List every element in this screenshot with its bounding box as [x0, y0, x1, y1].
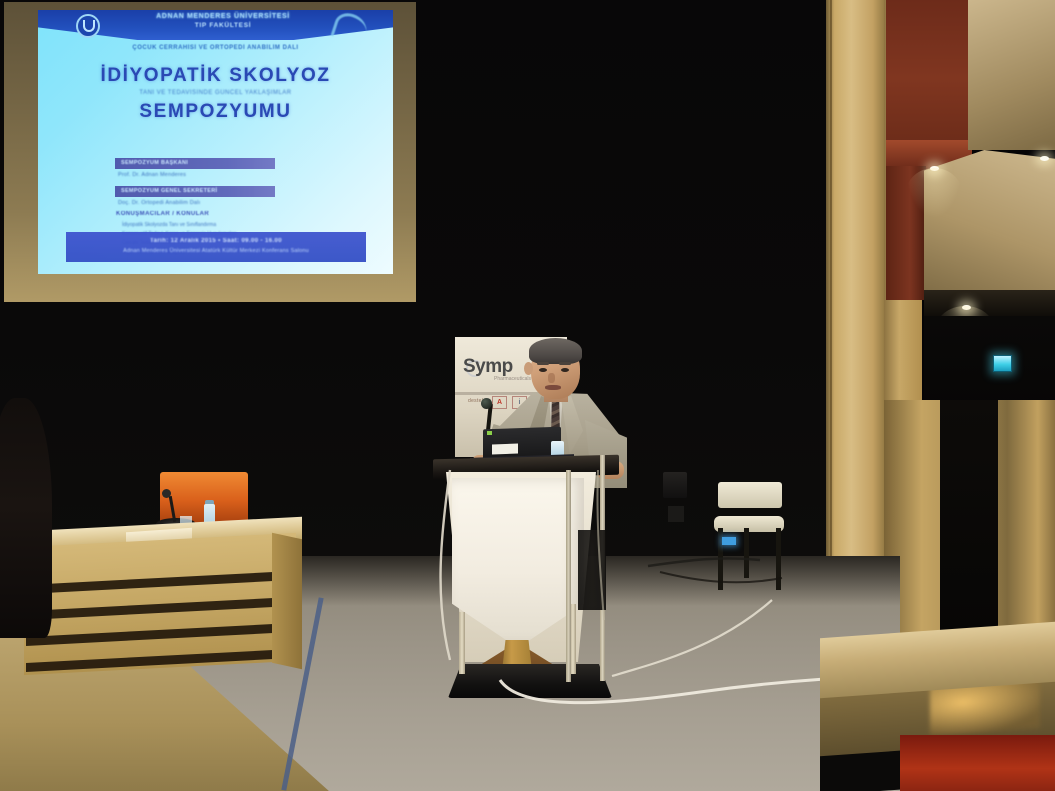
stage-chair-back — [718, 482, 782, 508]
slide-title-line2: SEMPOZYUMU — [38, 101, 393, 123]
seated-person-silhouette — [0, 398, 52, 638]
slide-bar-secretary: SEMPOZYUM GENEL SEKRETERİ — [115, 186, 275, 197]
stage-chair-leg-back — [744, 528, 749, 578]
wall-gap-shadow — [940, 400, 998, 635]
slide-header-line2: TIP FAKÜLTESİ — [98, 22, 348, 29]
slide-header-line1: ADNAN MENDERES ÜNİVERSİTESİ — [98, 13, 348, 20]
speaker-eyebrow-left — [537, 362, 549, 365]
speaker-nose — [548, 373, 555, 383]
wall-socket-panel — [668, 506, 684, 522]
speaker-eye-right — [561, 368, 569, 372]
university-logo-icon — [76, 14, 100, 38]
wall-equipment-box — [663, 472, 687, 498]
slide-secretary-value: Doç. Dr. Ortopedi Anabilim Dalı — [118, 200, 200, 206]
podium-support-rod-left — [459, 612, 465, 674]
panel-seam — [830, 0, 832, 640]
sponsor-mark-a: A — [492, 396, 507, 409]
laptop-indicator-icon — [487, 431, 492, 435]
speaker-eye-left — [539, 368, 547, 372]
slide-bar-chair-label: SEMPOZYUM BAŞKANI — [121, 160, 188, 166]
podium-microphone-head — [481, 398, 492, 409]
floor-equipment-shadow — [578, 530, 606, 610]
slide-chair-value: Prof. Dr. Adnan Menderes — [118, 172, 186, 178]
conference-hall-photo: ADNAN MENDERES ÜNİVERSİTESİ TIP FAKÜLTES… — [0, 0, 1055, 791]
slide-bar-chair: SEMPOZYUM BAŞKANI — [115, 158, 275, 169]
speaker-eyebrow-right — [559, 362, 571, 365]
speaker-hair — [529, 338, 582, 364]
speaker-mouth — [545, 385, 561, 390]
ceiling-spot-light-2 — [1040, 156, 1049, 161]
speaker-ear — [524, 362, 533, 375]
sponsor-brand-subtext: Pharmaceuticals — [494, 376, 531, 382]
table-microphone-head — [162, 489, 171, 498]
red-carpet — [900, 735, 1055, 791]
slide-department: ÇOCUK CERRAHİSİ VE ORTOPEDİ ANABİLİM DAL… — [38, 45, 393, 51]
slide-footer-datetime: Tarih: 12 Aralık 2015 • Saat: 09.00 - 16… — [66, 238, 366, 244]
sponsor-brand-text: Symp — [463, 356, 513, 378]
stage-chair-leg-right — [776, 528, 781, 590]
exit-sign-icon — [993, 355, 1012, 372]
slide-title-subline: TANI VE TEDAVİSİNDE GÜNCEL YAKLAŞIMLAR — [38, 90, 393, 96]
slide-list-header: KONUŞMACILAR / KONULAR — [116, 211, 209, 217]
projection-screen-frame: ADNAN MENDERES ÜNİVERSİTESİ TIP FAKÜLTES… — [4, 2, 416, 302]
slide-list-item: İdiyopatik Skolyozda Tanı ve Sınıflandır… — [122, 222, 216, 228]
equipment-blue-led-icon — [722, 537, 736, 545]
wood-wall-panel-left — [826, 0, 886, 640]
slide-footer-venue: Adnan Menderes Üniversitesi Atatürk Kült… — [66, 248, 366, 254]
stand-pole-left — [566, 470, 571, 682]
slide-footer-band: Tarih: 12 Aralık 2015 • Saat: 09.00 - 16… — [66, 232, 366, 262]
angled-wall-panel-upper — [968, 0, 1055, 150]
podium-base — [448, 664, 612, 698]
stage-chair-seat — [714, 516, 784, 532]
slide-title-line1: İDİYOPATİK SKOLYOZ — [38, 65, 393, 87]
slide-bar-secretary-label: SEMPOZYUM GENEL SEKRETERİ — [121, 188, 217, 194]
presentation-slide: ADNAN MENDERES ÜNİVERSİTESİ TIP FAKÜLTES… — [38, 10, 393, 274]
panel-table-side — [272, 533, 302, 669]
projection-screen: ADNAN MENDERES ÜNİVERSİTESİ TIP FAKÜLTES… — [38, 10, 393, 274]
spot-glow-1 — [906, 168, 962, 218]
laptop-label-sticker — [492, 444, 518, 455]
